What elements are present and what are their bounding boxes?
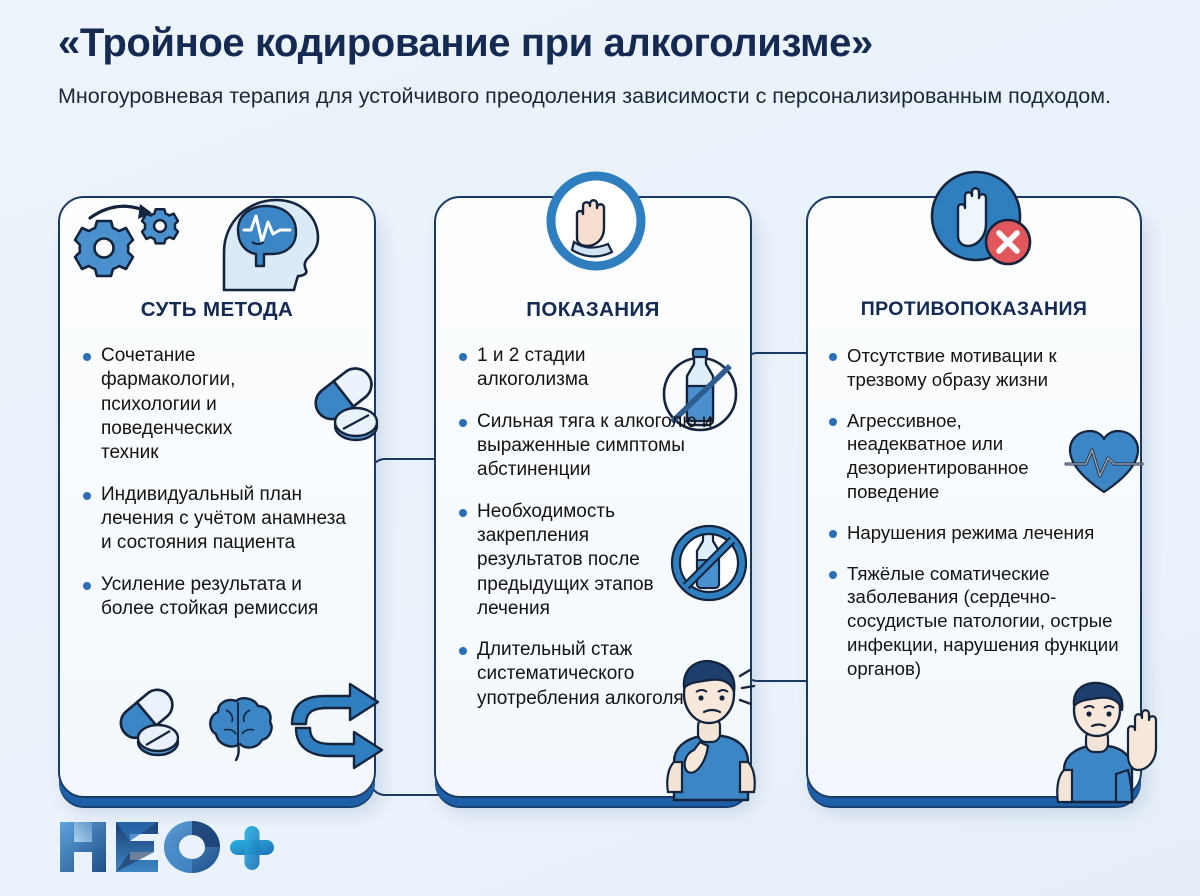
brain-icon bbox=[200, 692, 278, 764]
list-item: Агрессивное, неадекватное или дезориенти… bbox=[828, 409, 1068, 504]
cards-row: СУТЬ МЕТОДА Сочетание фармакологии, псих… bbox=[0, 196, 1200, 816]
shuffle-arrows-icon bbox=[284, 676, 390, 772]
card-sut-metoda[interactable]: СУТЬ МЕТОДА Сочетание фармакологии, псих… bbox=[58, 196, 376, 798]
list-item: Отсутствие мотивации к трезвому образу ж… bbox=[828, 344, 1128, 392]
stop-hand-red-x-icon bbox=[920, 162, 1040, 280]
list-item: Тяжёлые соматические заболевания (сердеч… bbox=[828, 562, 1128, 681]
bullet-list-protivopokazaniya: Отсутствие мотивации к трезвому образу ж… bbox=[828, 344, 1128, 698]
neo-plus-logo[interactable] bbox=[58, 816, 274, 878]
card-title-pokazaniya: ПОКАЗАНИЯ bbox=[436, 298, 750, 322]
list-item: 1 и 2 стадии алкоголизма bbox=[458, 344, 654, 393]
gears-icon bbox=[68, 190, 198, 282]
man-raised-hand-icon bbox=[1044, 678, 1166, 804]
page-header: «Тройное кодирование при алкоголизме» Мн… bbox=[0, 0, 1200, 111]
head-brain-ecg-icon bbox=[208, 186, 328, 294]
list-item: Необходимость закрепления результатов по… bbox=[458, 500, 698, 622]
list-item: Усиление результата и более стойкая реми… bbox=[82, 573, 358, 622]
card-title-sut-metoda: СУТЬ МЕТОДА bbox=[60, 298, 374, 322]
list-item: Нарушения режима лечения bbox=[828, 521, 1128, 545]
card-title-protivopokazaniya: ПРОТИВОПОКАЗАНИЯ bbox=[808, 298, 1140, 321]
page-title: «Тройное кодирование при алкоголизме» bbox=[58, 22, 1200, 65]
stop-hand-prohibition-icon bbox=[541, 166, 651, 276]
list-item: Сильная тяга к алкоголю и выраженные сим… bbox=[458, 410, 734, 483]
page-subtitle: Многоуровневая терапия для устойчивого п… bbox=[58, 82, 1148, 111]
list-item: Индивидуальный план лечения с учётом ана… bbox=[82, 483, 358, 556]
bullet-list-sut-metoda: Сочетание фармакологии, психологии и пов… bbox=[82, 344, 358, 638]
card-protivopokazaniya[interactable]: ПРОТИВОПОКАЗАНИЯ Отсутствие мотивации к … bbox=[806, 196, 1142, 798]
pill-capsule-tablet-icon bbox=[108, 680, 192, 762]
logo-mark bbox=[58, 816, 274, 878]
card-pokazaniya[interactable]: ПОКАЗАНИЯ 1 и 2 стадии алкогол bbox=[434, 196, 752, 798]
worried-man-icon bbox=[648, 650, 766, 802]
list-item: Сочетание фармакологии, психологии и пов… bbox=[82, 344, 278, 466]
